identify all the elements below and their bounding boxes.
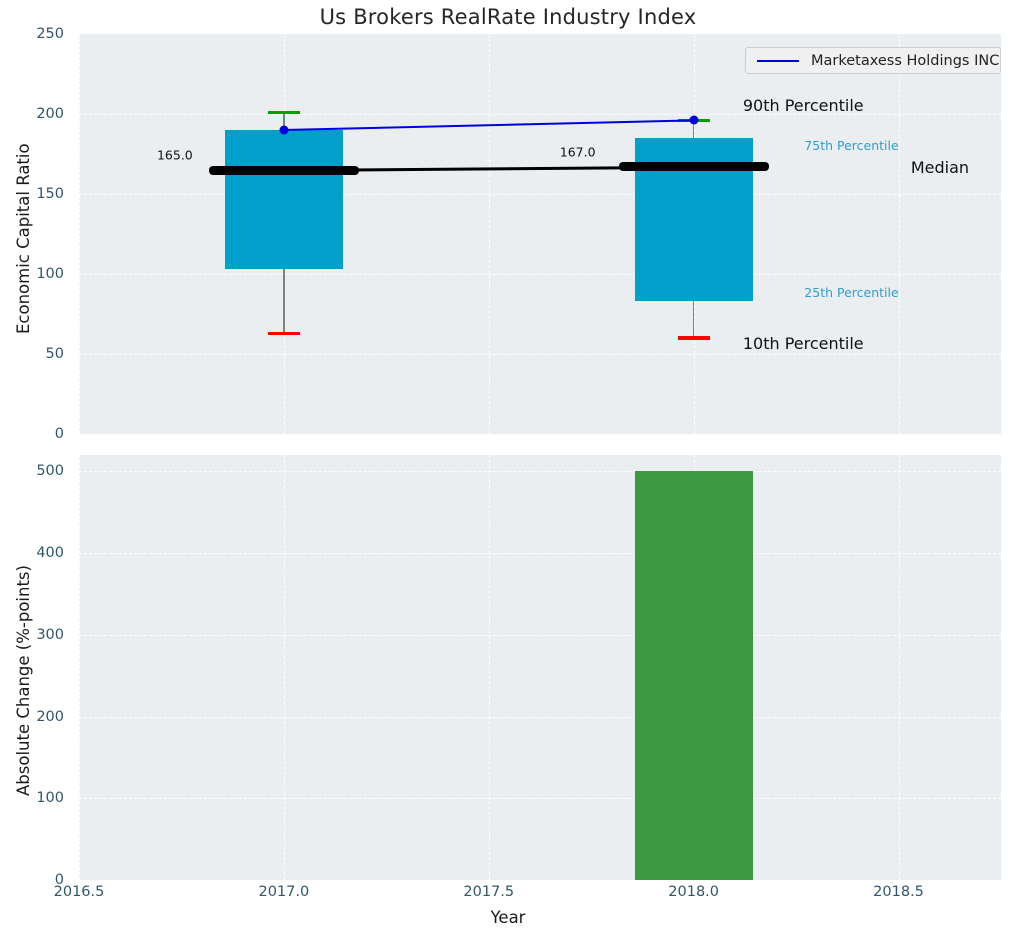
gridline-vertical bbox=[899, 34, 900, 434]
panel-economic-capital-ratio bbox=[79, 34, 1001, 434]
y-tick-label: 250 bbox=[0, 26, 64, 42]
y-axis-title-top: Economic Capital Ratio bbox=[14, 143, 33, 334]
company-data-point[interactable] bbox=[279, 126, 288, 135]
y-tick-label: 400 bbox=[0, 545, 64, 561]
cap-90th-percentile bbox=[268, 111, 300, 114]
x-axis-title: Year bbox=[0, 908, 1016, 927]
chart-root: Us Brokers RealRate Industry Index 05010… bbox=[0, 0, 1016, 942]
y-axis-title-bottom: Absolute Change (%-points) bbox=[14, 565, 33, 796]
legend-line-icon bbox=[757, 60, 799, 62]
x-tick-label: 2017.0 bbox=[259, 884, 310, 900]
x-tick-label: 2016.5 bbox=[54, 884, 105, 900]
gridline-vertical bbox=[284, 455, 285, 880]
cap-10th-percentile bbox=[268, 332, 300, 335]
company-data-point[interactable] bbox=[689, 116, 698, 125]
annotation-label: Median bbox=[911, 158, 969, 177]
gridline-horizontal bbox=[79, 635, 1001, 636]
annotation-label: 75th Percentile bbox=[804, 138, 898, 153]
gridline-vertical bbox=[79, 34, 80, 434]
gridline-horizontal bbox=[79, 194, 1001, 195]
median-value-label: 165.0 bbox=[157, 148, 193, 163]
gridline-horizontal bbox=[79, 434, 1001, 435]
x-tick-label: 2018.0 bbox=[668, 884, 719, 900]
gridline-horizontal bbox=[79, 553, 1001, 554]
gridline-horizontal bbox=[79, 880, 1001, 881]
gridline-horizontal bbox=[79, 354, 1001, 355]
legend[interactable]: Marketaxess Holdings INC bbox=[745, 47, 1001, 74]
x-tick-label: 2018.5 bbox=[873, 884, 924, 900]
gridline-vertical bbox=[79, 455, 80, 880]
median-value-label: 167.0 bbox=[560, 144, 596, 159]
cap-10th-percentile bbox=[678, 336, 710, 339]
gridline-vertical bbox=[489, 34, 490, 434]
panel-absolute-change bbox=[79, 455, 1001, 880]
y-tick-label: 0 bbox=[0, 426, 64, 442]
chart-title: Us Brokers RealRate Industry Index bbox=[0, 5, 1016, 29]
annotation-label: 10th Percentile bbox=[743, 334, 864, 353]
annotation-label: 90th Percentile bbox=[743, 96, 864, 115]
x-tick-label: 2017.5 bbox=[463, 884, 514, 900]
gridline-horizontal bbox=[79, 717, 1001, 718]
legend-label: Marketaxess Holdings INC bbox=[811, 53, 999, 69]
gridline-horizontal bbox=[79, 471, 1001, 472]
bar-absolute-change bbox=[635, 471, 753, 880]
annotation-label: 25th Percentile bbox=[804, 285, 898, 300]
gridline-vertical bbox=[899, 455, 900, 880]
gridline-vertical bbox=[489, 455, 490, 880]
gridline-horizontal bbox=[79, 798, 1001, 799]
gridline-horizontal bbox=[79, 274, 1001, 275]
box bbox=[225, 130, 343, 269]
y-tick-label: 50 bbox=[0, 346, 64, 362]
y-tick-label: 500 bbox=[0, 463, 64, 479]
y-tick-label: 200 bbox=[0, 106, 64, 122]
